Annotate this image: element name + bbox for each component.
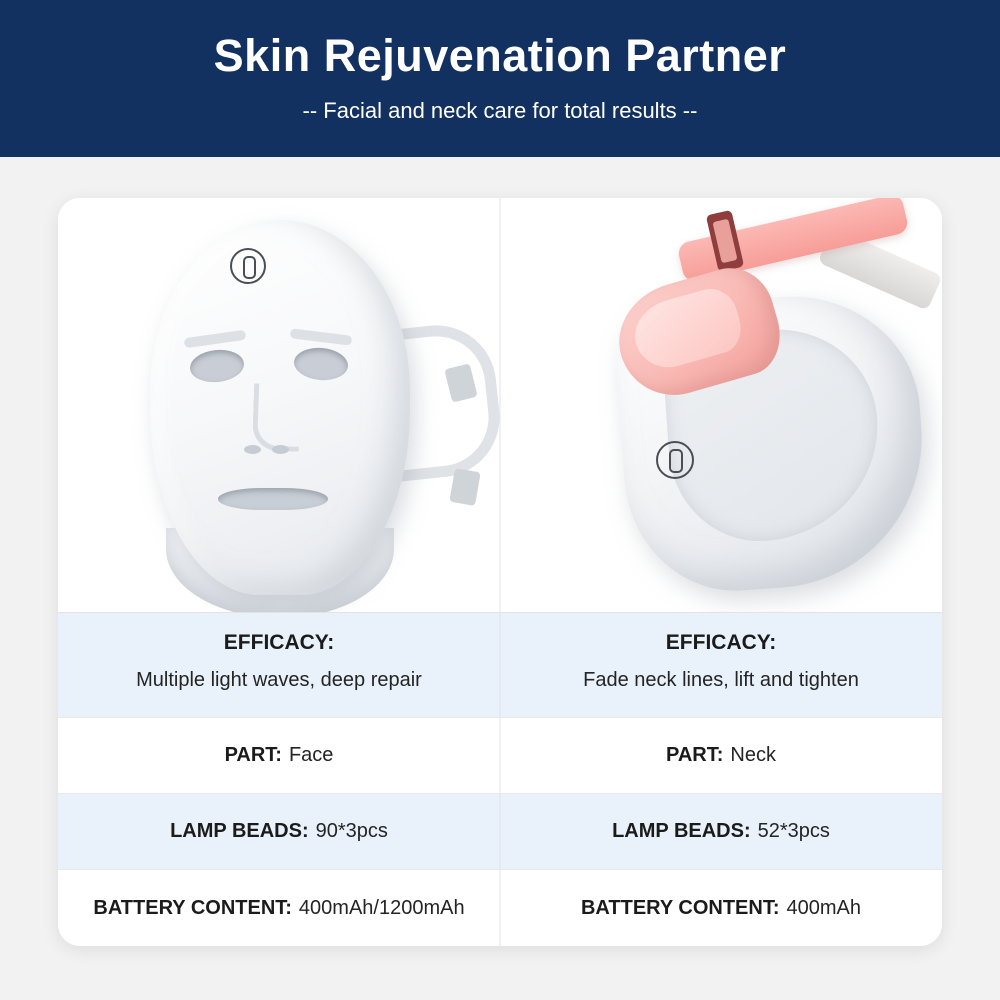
spec-row-battery-content: BATTERY CONTENT: 400mAh bbox=[500, 870, 942, 946]
spec-label: LAMP BEADS: bbox=[170, 820, 309, 843]
header-banner: Skin Rejuvenation Partner -- Facial and … bbox=[0, 0, 1000, 157]
spec-value: Face bbox=[289, 744, 333, 767]
spec-label: PART: bbox=[225, 744, 282, 767]
face-mask-illustration bbox=[58, 198, 500, 612]
strap-buckle-bottom bbox=[449, 468, 481, 506]
spec-value: 90*3pcs bbox=[316, 820, 388, 843]
brand-logo-icon bbox=[230, 248, 266, 284]
mask-nostril-right bbox=[272, 445, 289, 454]
product-column-neck-device: EFFICACY: Fade neck lines, lift and tigh… bbox=[500, 198, 942, 946]
spec-value: Neck bbox=[730, 744, 776, 767]
spec-label: EFFICACY: bbox=[58, 628, 500, 658]
spec-row-efficacy: EFFICACY: Multiple light waves, deep rep… bbox=[58, 613, 500, 718]
spec-row-lamp-beads: LAMP BEADS: 52*3pcs bbox=[500, 794, 942, 870]
mask-nostril-left bbox=[244, 445, 261, 454]
spec-label: BATTERY CONTENT: bbox=[93, 897, 292, 920]
comparison-card: EFFICACY: Multiple light waves, deep rep… bbox=[58, 198, 942, 946]
spec-row-battery-content: BATTERY CONTENT: 400mAh/1200mAh bbox=[58, 870, 500, 946]
mask-mouth-opening bbox=[218, 488, 328, 510]
spec-label: PART: bbox=[666, 744, 723, 767]
neck-device-image bbox=[500, 198, 942, 612]
spec-label: BATTERY CONTENT: bbox=[581, 897, 780, 920]
neck-device-spec-list: EFFICACY: Fade neck lines, lift and tigh… bbox=[500, 612, 942, 946]
face-mask-spec-list: EFFICACY: Multiple light waves, deep rep… bbox=[58, 612, 500, 946]
face-mask-image bbox=[58, 198, 500, 612]
mask-nose-ridge bbox=[252, 383, 301, 452]
product-infographic-page: Skin Rejuvenation Partner -- Facial and … bbox=[0, 0, 1000, 1000]
product-column-face-mask: EFFICACY: Multiple light waves, deep rep… bbox=[58, 198, 500, 946]
spec-value: Fade neck lines, lift and tighten bbox=[500, 664, 942, 696]
spec-value: 400mAh/1200mAh bbox=[299, 897, 465, 920]
spec-row-lamp-beads: LAMP BEADS: 90*3pcs bbox=[58, 794, 500, 870]
spec-value: 400mAh bbox=[787, 897, 862, 920]
spec-label: EFFICACY: bbox=[500, 628, 942, 658]
spec-value: 52*3pcs bbox=[758, 820, 830, 843]
spec-row-efficacy: EFFICACY: Fade neck lines, lift and tigh… bbox=[500, 613, 942, 718]
page-title: Skin Rejuvenation Partner bbox=[0, 28, 1000, 84]
page-subtitle: -- Facial and neck care for total result… bbox=[0, 96, 1000, 126]
column-divider bbox=[500, 198, 501, 946]
brand-logo-icon bbox=[656, 441, 694, 479]
product-columns: EFFICACY: Multiple light waves, deep rep… bbox=[58, 198, 942, 946]
spec-label: LAMP BEADS: bbox=[612, 820, 751, 843]
spec-row-part: PART: Face bbox=[58, 718, 500, 794]
spec-value: Multiple light waves, deep repair bbox=[58, 664, 500, 696]
spec-row-part: PART: Neck bbox=[500, 718, 942, 794]
neck-device-illustration bbox=[500, 198, 942, 612]
